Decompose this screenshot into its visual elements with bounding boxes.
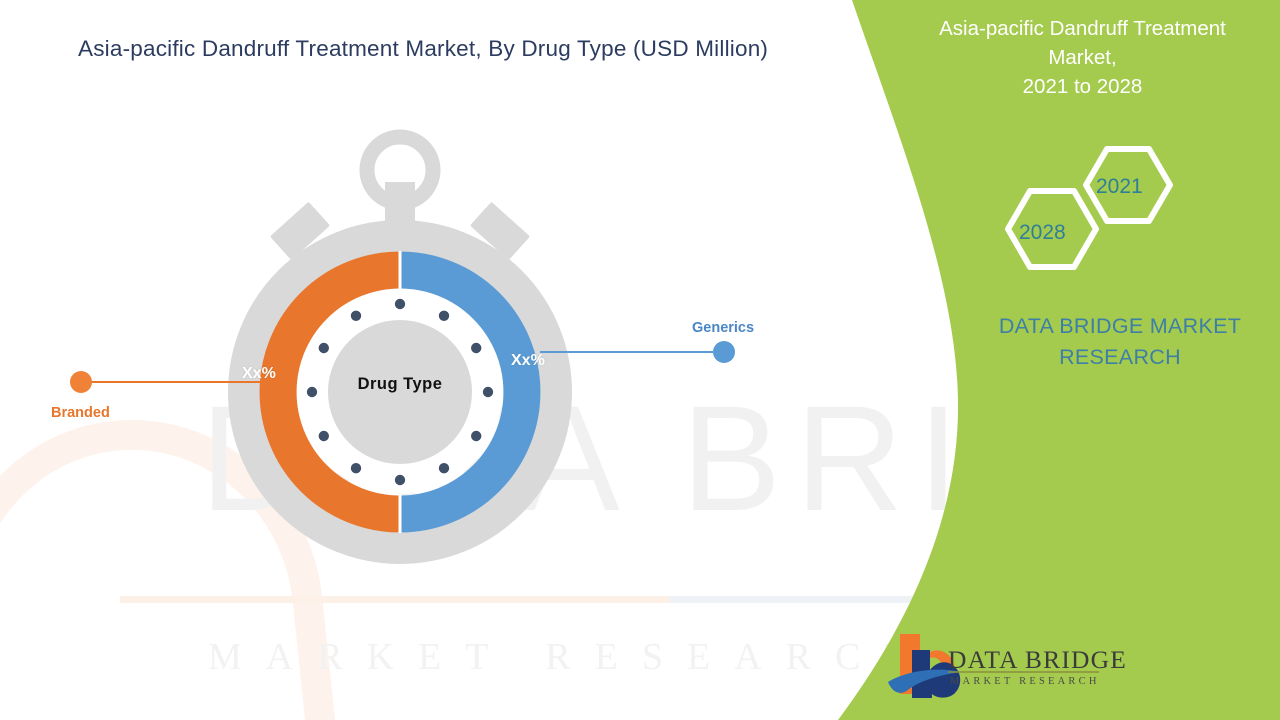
hexagon-label-2021: 2021 bbox=[1096, 175, 1143, 199]
logo-title: DATA BRIDGE bbox=[948, 645, 1127, 675]
panel-title-line-2: Market, bbox=[900, 43, 1265, 72]
panel-brand-line-1: DATA BRIDGE MARKET bbox=[960, 311, 1280, 342]
panel-title: Asia-pacific Dandruff Treatment Market, … bbox=[900, 14, 1265, 101]
panel-title-line-1: Asia-pacific Dandruff Treatment bbox=[900, 14, 1265, 43]
panel-brand-text: DATA BRIDGE MARKET RESEARCH bbox=[960, 311, 1280, 373]
panel-brand-line-2: RESEARCH bbox=[960, 342, 1280, 373]
logo-subtitle: MARKET RESEARCH bbox=[950, 676, 1100, 687]
hexagon-group bbox=[990, 145, 1190, 285]
panel-title-line-3: 2021 to 2028 bbox=[900, 72, 1265, 101]
hexagon-label-2028: 2028 bbox=[1019, 221, 1066, 245]
infographic-canvas: DATA BRIDGE MARKET RESEARCH Asia-pacific… bbox=[0, 0, 1280, 720]
